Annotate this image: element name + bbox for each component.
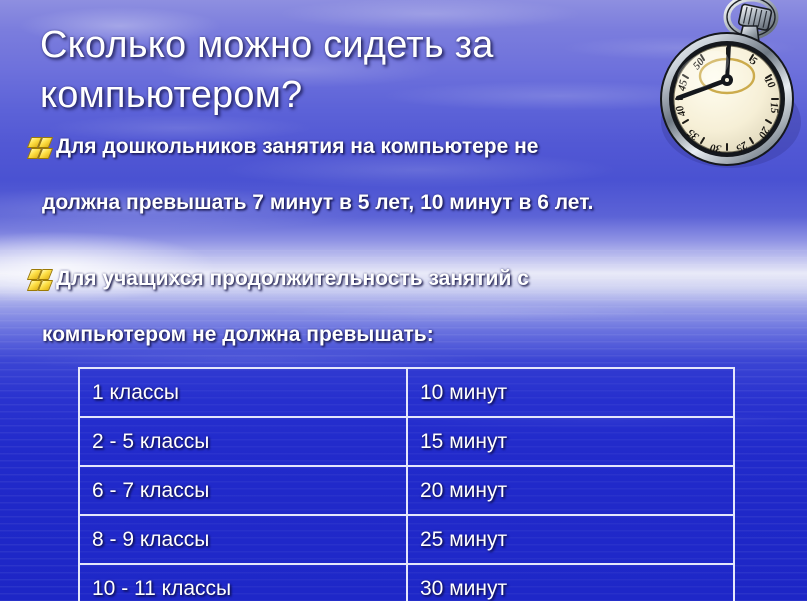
table-cell-grade: 2 - 5 классы (79, 417, 407, 466)
gold-diamond-cluster-icon (28, 267, 54, 293)
table-row: 8 - 9 классы 25 минут (79, 515, 734, 564)
table-cell-grade: 6 - 7 классы (79, 466, 407, 515)
table-row: 6 - 7 классы 20 минут (79, 466, 734, 515)
bullet-2-line-2: компьютером не должна превышать: (14, 318, 714, 352)
table-row: 10 - 11 классы 30 минут (79, 564, 734, 601)
table-cell-grade: 1 классы (79, 368, 407, 417)
svg-text:40: 40 (673, 103, 689, 119)
table-cell-time: 10 минут (407, 368, 734, 417)
bullet-item-1: Для дошкольников занятия на компьютере н… (14, 130, 714, 220)
slide-title: Сколько можно сидеть за компьютером? (40, 20, 660, 120)
svg-text:50: 50 (691, 56, 708, 73)
svg-text:15: 15 (768, 102, 780, 114)
svg-text:10: 10 (762, 75, 778, 91)
svg-text:20: 20 (756, 124, 772, 141)
svg-text:25: 25 (733, 138, 750, 155)
table-row: 2 - 5 классы 15 минут (79, 417, 734, 466)
bullet-item-2: Для учащихся продолжительность занятий с… (14, 262, 714, 352)
bullet-1-line-1: Для дошкольников занятия на компьютере н… (14, 130, 714, 164)
bullet-1-line-2: должна превышать 7 минут в 5 лет, 10 мин… (14, 186, 714, 220)
table-cell-time: 15 минут (407, 417, 734, 466)
svg-text:5: 5 (748, 55, 759, 68)
presentation-slide: 5 10 15 20 25 30 35 40 45 50 Сколько мож… (0, 0, 807, 601)
table-row: 1 классы 10 минут (79, 368, 734, 417)
table-cell-time: 30 минут (407, 564, 734, 601)
grade-time-table: 1 классы 10 минут 2 - 5 классы 15 минут … (78, 367, 735, 601)
table-cell-time: 20 минут (407, 466, 734, 515)
table-cell-grade: 10 - 11 классы (79, 564, 407, 601)
table-cell-grade: 8 - 9 классы (79, 515, 407, 564)
bullet-2-line-1: Для учащихся продолжительность занятий с (14, 262, 714, 296)
table-cell-time: 25 минут (407, 515, 734, 564)
svg-text:45: 45 (676, 78, 690, 93)
gold-diamond-cluster-icon (28, 135, 54, 161)
grade-time-table-body: 1 классы 10 минут 2 - 5 классы 15 минут … (79, 368, 734, 601)
